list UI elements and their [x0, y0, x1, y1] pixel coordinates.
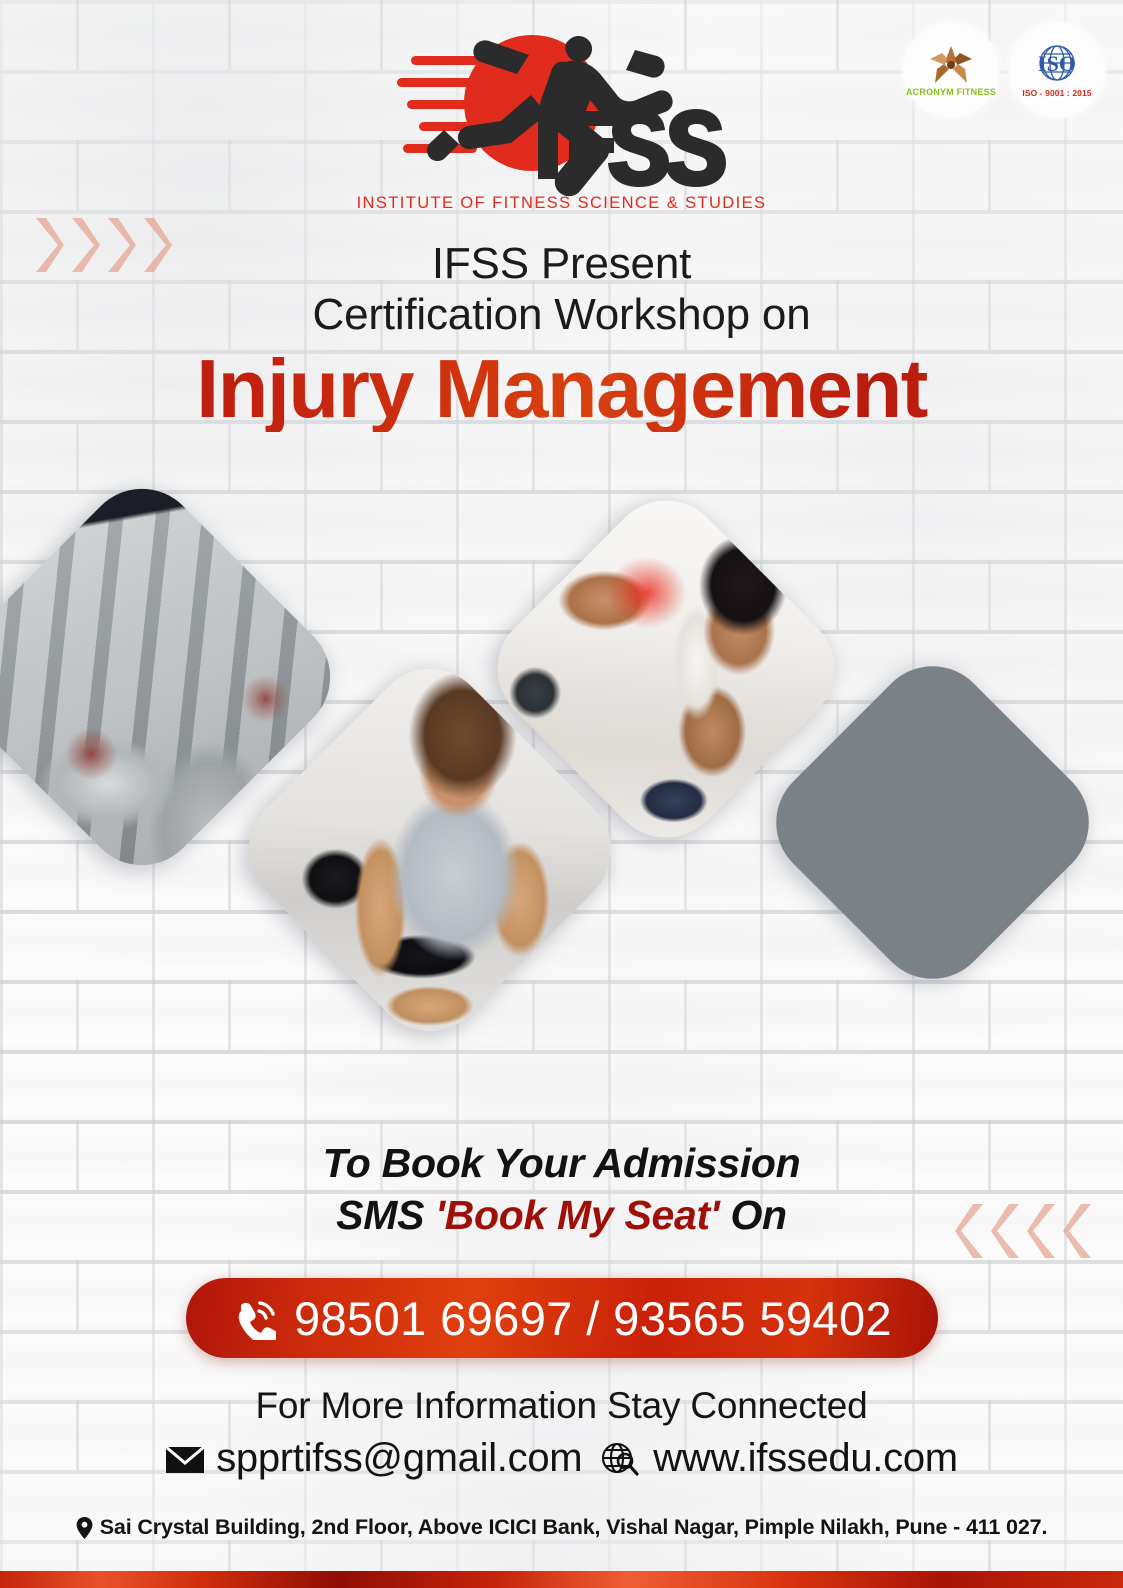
phone-cta-button[interactable]: 98501 69697 / 93565 59402: [186, 1278, 938, 1358]
iso-badge: ISO ISO - 9001 : 2015: [1009, 22, 1105, 118]
booking-keyword: 'Book My Seat': [435, 1192, 719, 1238]
photo-collage: [0, 455, 1123, 1135]
iso-caption: ISO - 9001 : 2015: [1022, 88, 1091, 98]
email-link[interactable]: spprtifss@gmail.com: [165, 1436, 582, 1481]
booking-sms-suffix: On: [719, 1192, 786, 1238]
bottom-accent-bar: [0, 1571, 1123, 1588]
running-man-icon: [397, 18, 727, 198]
star-burst-icon: [927, 43, 975, 87]
heading-line-1: IFSS Present: [0, 238, 1123, 289]
heading-line-2: Certification Workshop on: [0, 289, 1123, 340]
booking-line-1: To Book Your Admission: [0, 1137, 1123, 1189]
page-title: Injury Management: [0, 345, 1123, 432]
footer-heading: For More Information Stay Connected: [0, 1385, 1123, 1427]
globe-icon: ISO: [1029, 43, 1085, 87]
ifss-logo-mark: [397, 18, 727, 198]
certification-badges: ACRONYM FITNESS ISO ISO - 9001 : 2015: [903, 22, 1105, 118]
acronym-fitness-caption: ACRONYM FITNESS: [906, 87, 996, 97]
footer-contact: For More Information Stay Connected sppr…: [0, 1385, 1123, 1481]
email-address: spprtifss@gmail.com: [216, 1436, 582, 1481]
acronym-fitness-badge: ACRONYM FITNESS: [903, 22, 999, 118]
website-url: www.ifssedu.com: [653, 1436, 958, 1481]
footer-links: spprtifss@gmail.com www.ifssedu.com: [0, 1436, 1123, 1481]
location-pin-icon: [76, 1517, 93, 1539]
booking-instructions: To Book Your Admission SMS 'Book My Seat…: [0, 1137, 1123, 1241]
booking-line-2: SMS 'Book My Seat' On: [0, 1189, 1123, 1241]
address-row: Sai Crystal Building, 2nd Floor, Above I…: [0, 1515, 1123, 1540]
poster-heading: IFSS Present Certification Workshop on I…: [0, 238, 1123, 432]
address-text: Sai Crystal Building, 2nd Floor, Above I…: [100, 1515, 1048, 1540]
phone-ringing-icon: [232, 1296, 276, 1340]
booking-sms-prefix: SMS: [336, 1192, 435, 1238]
iso-label: ISO: [1038, 51, 1076, 76]
website-link[interactable]: www.ifssedu.com: [598, 1436, 958, 1481]
phone-numbers: 98501 69697 / 93565 59402: [294, 1291, 892, 1346]
globe-search-icon: [598, 1439, 642, 1479]
envelope-icon: [165, 1444, 205, 1474]
